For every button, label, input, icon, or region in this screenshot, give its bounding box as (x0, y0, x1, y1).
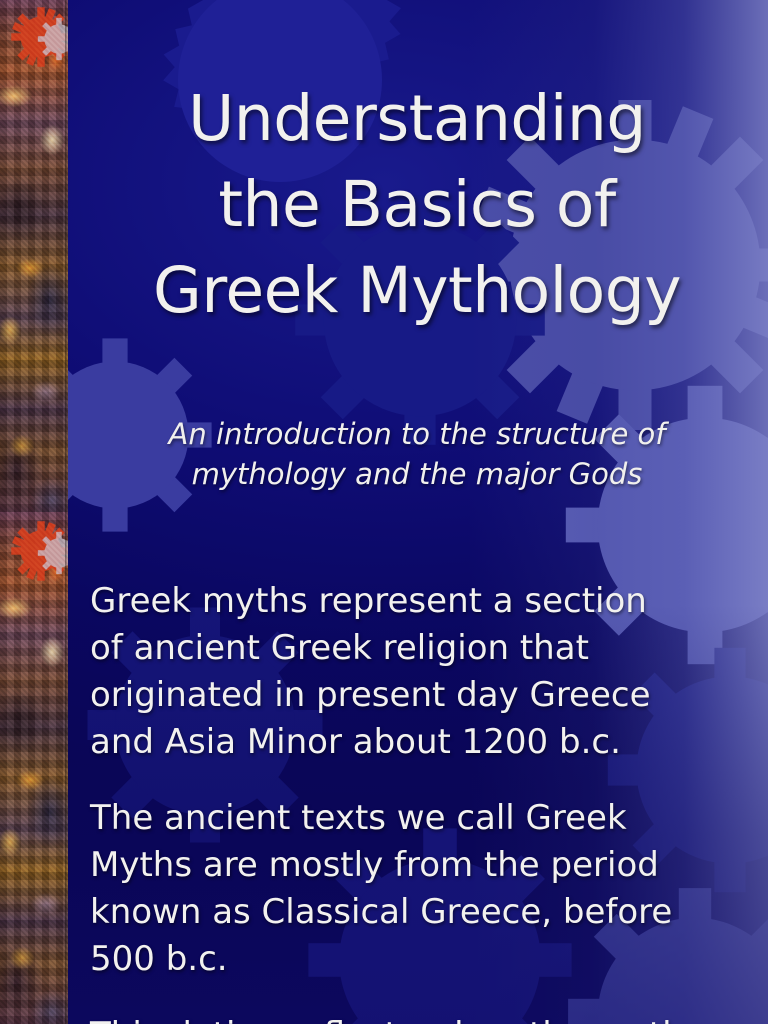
slide-subtitle: An introduction to the structure of myth… (82, 414, 752, 494)
body-line: and Asia Minor about 1200 b.c. (90, 719, 728, 766)
body-line: 500 b.c. (90, 936, 728, 983)
slide-title: Understanding the Basics of Greek Mythol… (76, 76, 758, 334)
presentation-slide: Understanding the Basics of Greek Mythol… (0, 0, 768, 1024)
title-line: the Basics of (76, 162, 758, 248)
body-line: known as Classical Greece, before (90, 889, 728, 936)
title-line: Understanding (76, 76, 758, 162)
subtitle-line: mythology and the major Gods (82, 454, 752, 494)
body-line: This dating reflects when the myths (90, 1012, 728, 1024)
subtitle-line: An introduction to the structure of (82, 414, 752, 454)
body-paragraph-clipped: This dating reflects when the myths (90, 1012, 728, 1024)
body-line: Myths are mostly from the period (90, 842, 728, 889)
left-border-strip (0, 0, 68, 1024)
body-paragraph: Greek myths represent a section of ancie… (90, 578, 728, 766)
slide-content: Understanding the Basics of Greek Mythol… (68, 0, 768, 1024)
body-line: Greek myths represent a section (90, 578, 728, 625)
body-line: originated in present day Greece (90, 672, 728, 719)
slide-body: Greek myths represent a section of ancie… (90, 578, 728, 1024)
body-line: of ancient Greek religion that (90, 625, 728, 672)
body-line: The ancient texts we call Greek (90, 795, 728, 842)
body-paragraph: The ancient texts we call Greek Myths ar… (90, 795, 728, 983)
title-line: Greek Mythology (76, 248, 758, 334)
border-noise-overlay (0, 0, 68, 1024)
